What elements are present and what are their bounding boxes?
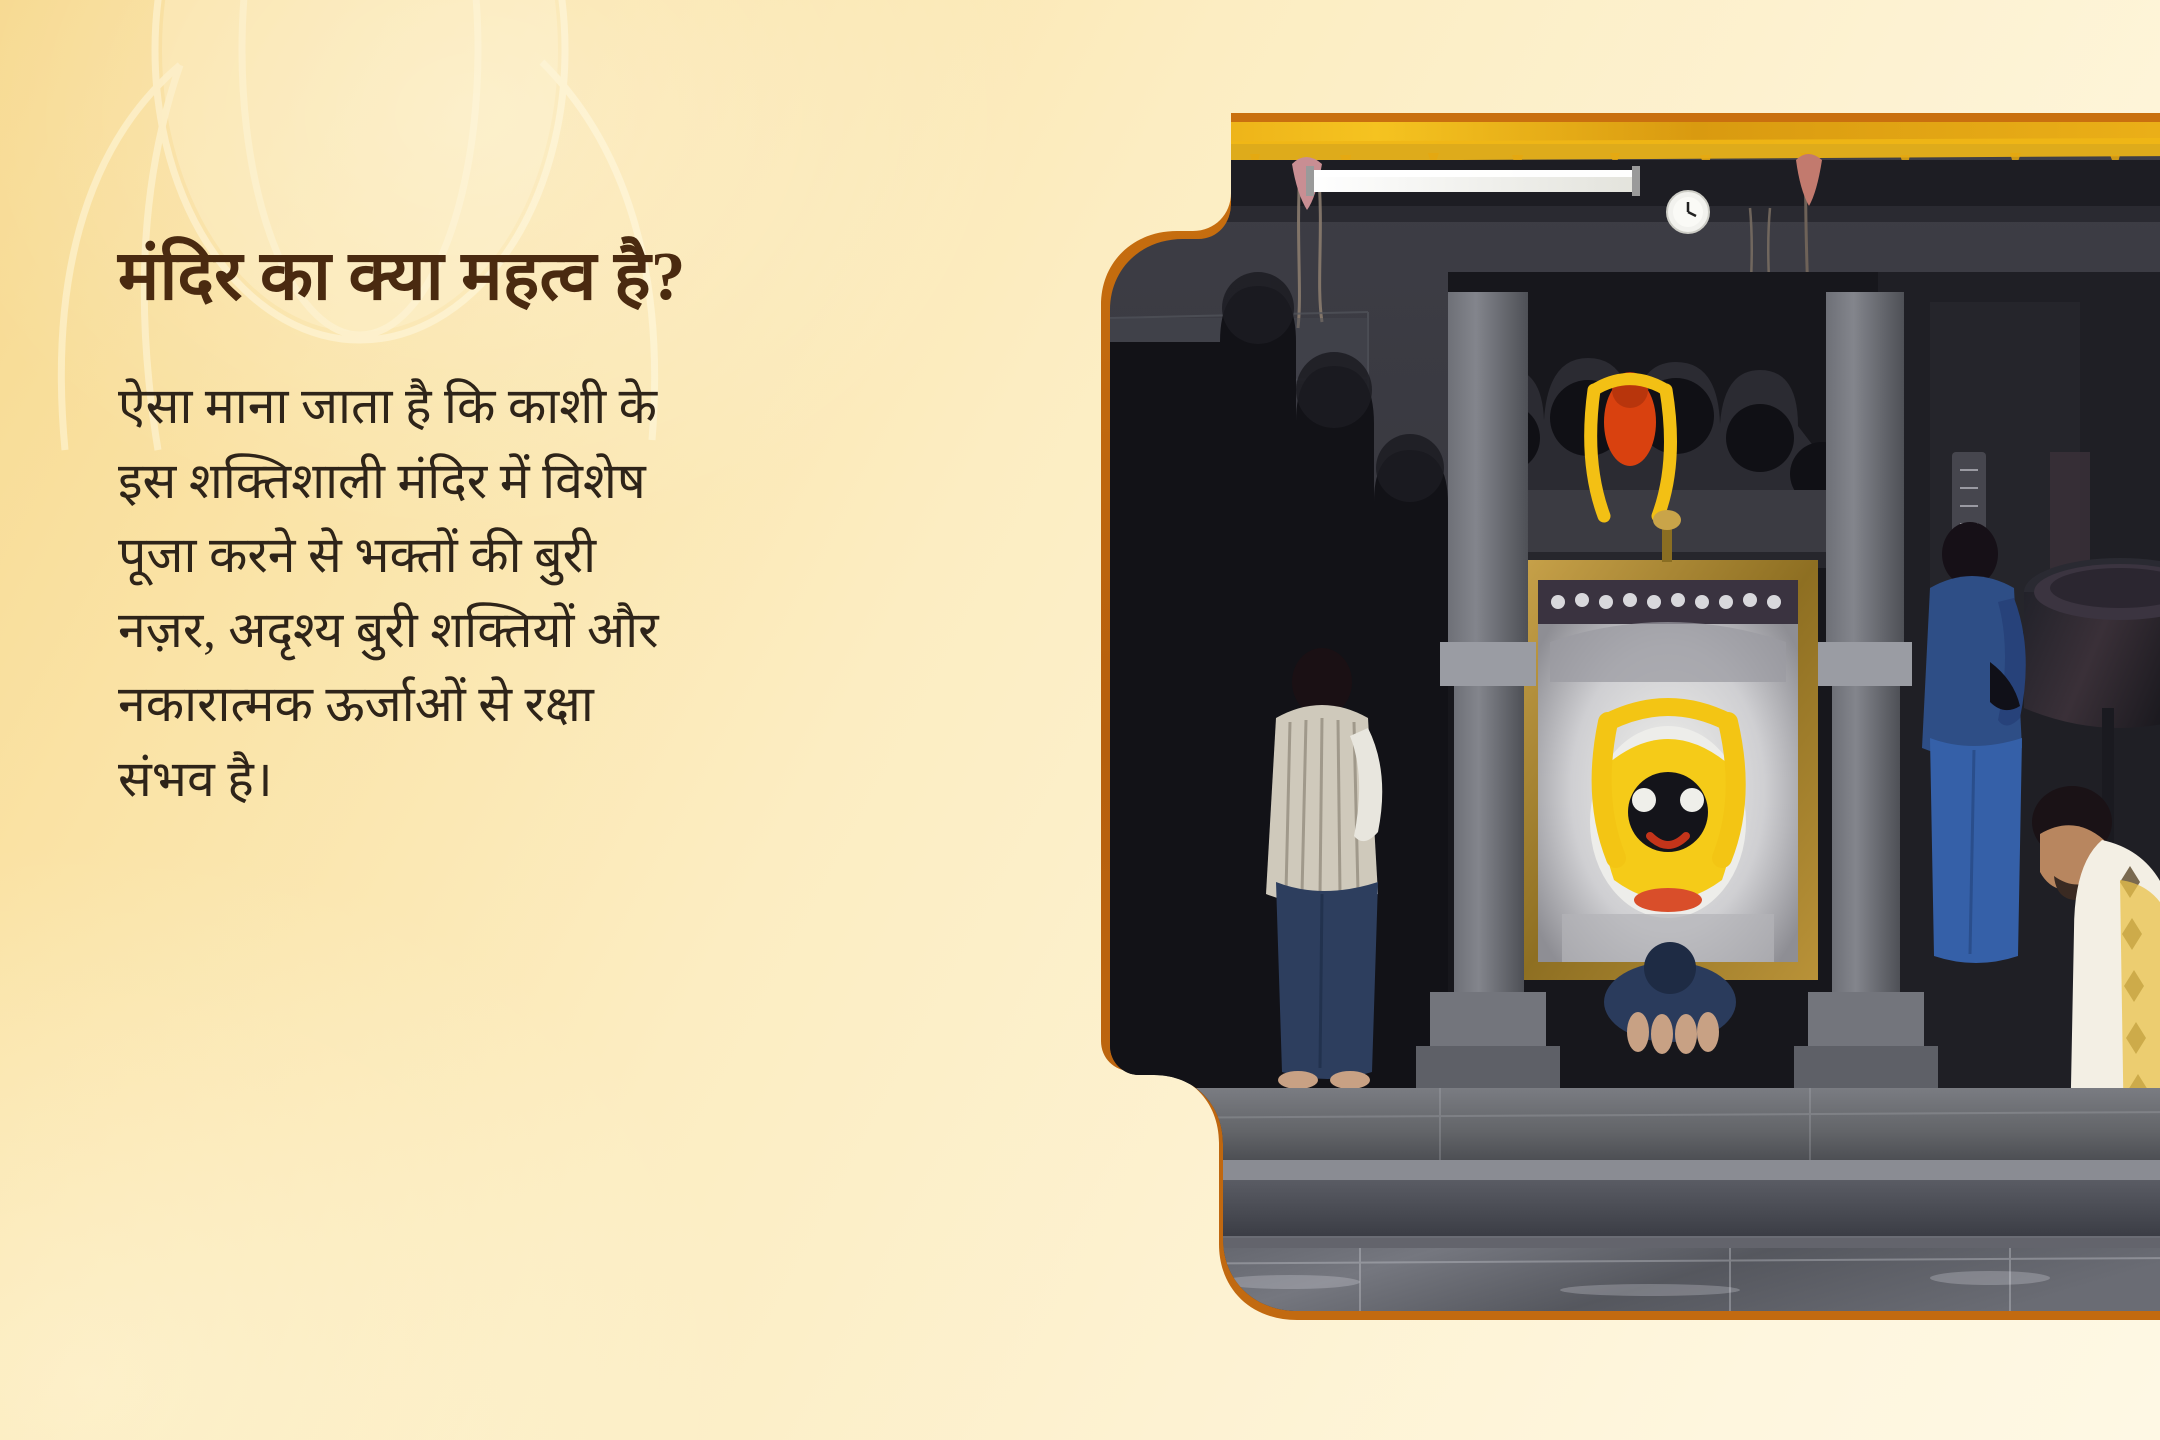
body-paragraph: ऐसा माना जाता है कि काशी के इस शक्तिशाली… — [118, 369, 938, 816]
body-line: इस शक्तिशाली मंदिर में विशेष — [118, 444, 938, 519]
body-line: नज़र, अदृश्य बुरी शक्तियों और — [118, 593, 938, 668]
temple-photo-frame — [1101, 113, 2160, 1320]
body-line: ऐसा माना जाता है कि काशी के — [118, 369, 938, 444]
page-title: मंदिर का क्या महत्व है? — [118, 238, 1018, 315]
body-line: संभव है। — [118, 742, 938, 817]
body-line: नकारात्मक ऊर्जाओं से रक्षा — [118, 667, 938, 742]
text-column: मंदिर का क्या महत्व है? ऐसा माना जाता है… — [118, 238, 1018, 816]
temple-photo — [1110, 122, 2160, 1311]
body-line: पूजा करने से भक्तों की बुरी — [118, 518, 938, 593]
